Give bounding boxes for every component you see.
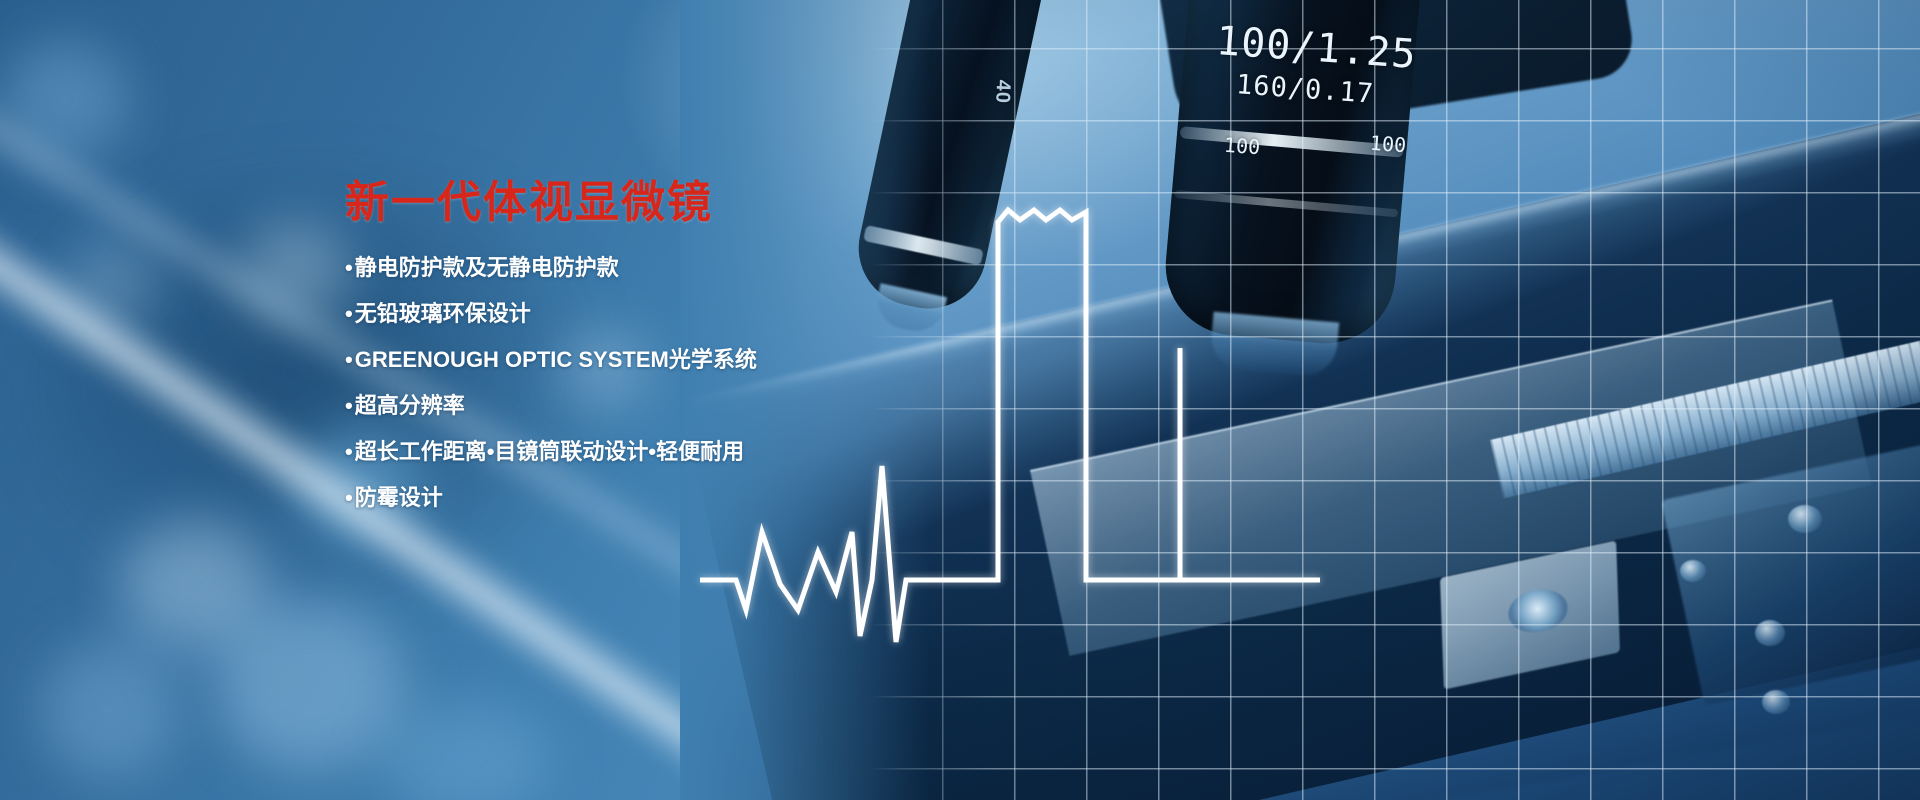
bullet-icon: • [345,395,353,417]
feature-text: 超高分辨率 [355,393,465,418]
bullet-icon: • [345,441,353,463]
list-item: •无铅玻璃环保设计 [345,303,905,325]
feature-list: •静电防护款及无静电防护款 •无铅玻璃环保设计 •GREENOUGH OPTIC… [345,257,905,509]
bullet-icon: • [345,487,353,509]
bokeh-3 [40,640,180,780]
feature-text: GREENOUGH OPTIC SYSTEM光学系统 [355,347,757,372]
list-item: •GREENOUGH OPTIC SYSTEM光学系统 [345,349,905,371]
list-item: •防霉设计 [345,487,905,509]
page-title: 新一代体视显微镜 [345,178,905,229]
feature-text: 无铅玻璃环保设计 [355,301,531,326]
list-item: •超长工作距离•目镜筒联动设计•轻便耐用 [345,441,905,463]
feature-text: 防霉设计 [355,485,443,510]
bullet-icon: • [345,303,353,325]
feature-text: 超长工作距离•目镜筒联动设计•轻便耐用 [355,439,744,464]
bullet-icon: • [345,349,353,371]
copy-block: 新一代体视显微镜 •静电防护款及无静电防护款 •无铅玻璃环保设计 •GREENO… [345,178,905,533]
bullet-icon: • [345,257,353,279]
list-item: •超高分辨率 [345,395,905,417]
product-banner: 40 100/1.25 160/0.17 100 100 [0,0,1920,800]
feature-text: 静电防护款及无静电防护款 [355,255,619,280]
list-item: •静电防护款及无静电防护款 [345,257,905,279]
bokeh-2 [215,600,405,770]
